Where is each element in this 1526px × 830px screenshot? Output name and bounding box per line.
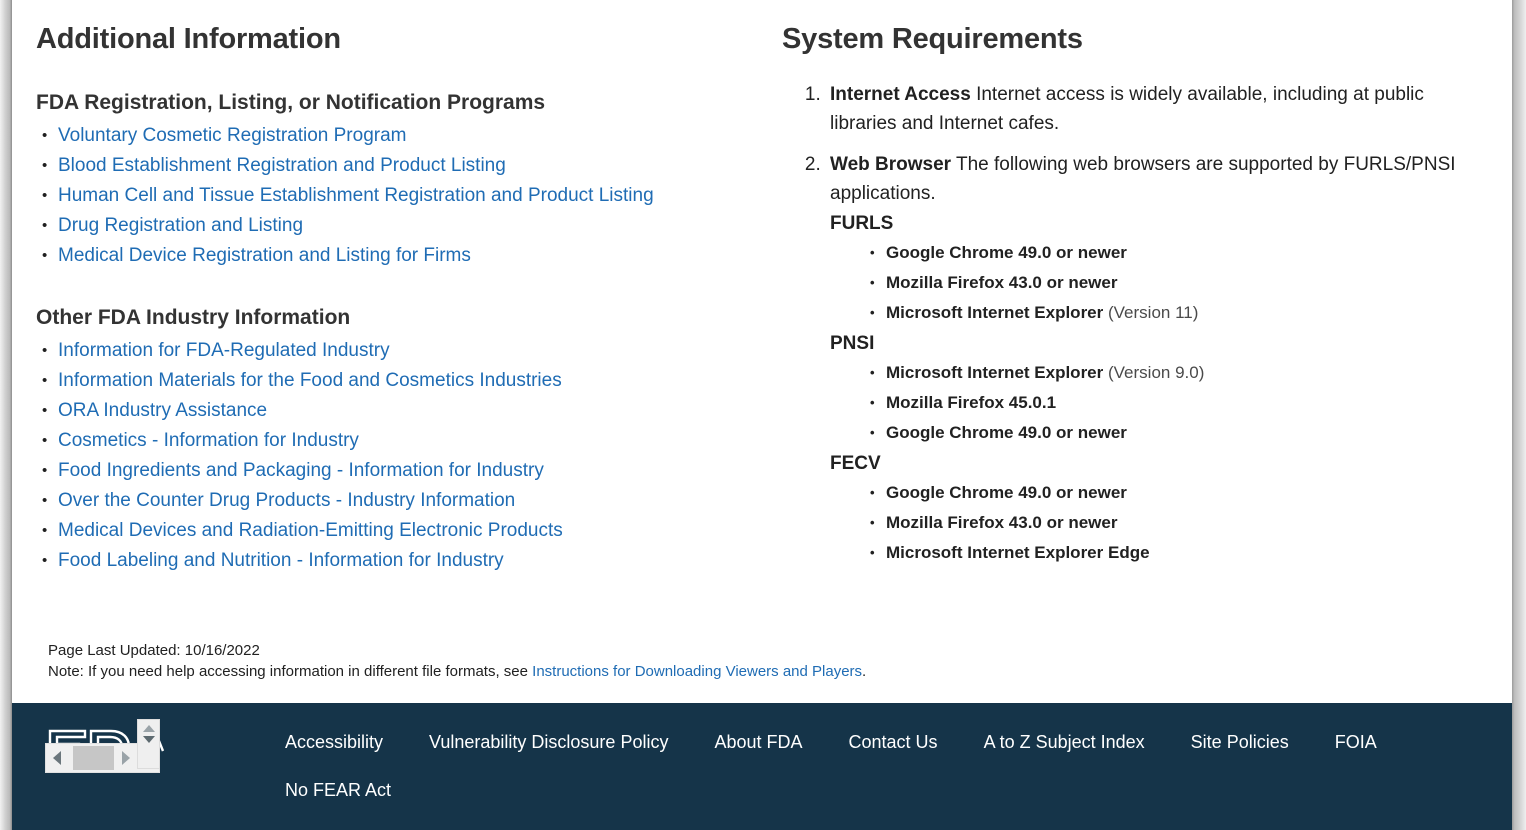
page-title-additional-information: Additional Information <box>36 22 760 56</box>
link-information-materials-food-cosmetics[interactable]: Information Materials for the Food and C… <box>58 370 562 391</box>
scroll-down-arrow-icon[interactable] <box>143 736 155 743</box>
list-item: ORA Industry Assistance <box>36 396 760 426</box>
list-item: Microsoft Internet Explorer (Version 9.0… <box>870 358 1490 388</box>
list-item: Human Cell and Tissue Establishment Regi… <box>36 181 760 211</box>
browser-list-fecv: Google Chrome 49.0 or newer Mozilla Fire… <box>830 478 1490 568</box>
link-human-cell-and-tissue-establishment[interactable]: Human Cell and Tissue Establishment Regi… <box>58 185 654 206</box>
horizontal-scrollbar-thumb[interactable] <box>73 746 114 770</box>
link-instructions-for-downloading-viewers-and-players[interactable]: Instructions for Downloading Viewers and… <box>532 663 862 680</box>
browser-list-pnsi: Microsoft Internet Explorer (Version 9.0… <box>830 358 1490 448</box>
link-information-for-fda-regulated-industry[interactable]: Information for FDA-Regulated Industry <box>58 340 390 361</box>
list-item: Google Chrome 49.0 or newer <box>870 478 1490 508</box>
link-medical-device-registration-and-listing[interactable]: Medical Device Registration and Listing … <box>58 245 471 266</box>
list-item: Information Materials for the Food and C… <box>36 366 760 396</box>
browser-version: (Version 9.0) <box>1103 363 1204 382</box>
site-footer: Accessibility Vulnerability Disclosure P… <box>12 703 1512 830</box>
list-item: Mozilla Firefox 43.0 or newer <box>870 268 1490 298</box>
file-format-note-suffix: . <box>862 663 866 680</box>
link-medical-devices-radiation-emitting[interactable]: Medical Devices and Radiation-Emitting E… <box>58 520 563 541</box>
other-fda-industry-links: Information for FDA-Regulated Industry I… <box>36 336 760 576</box>
window-left-gutter <box>0 0 12 830</box>
list-item: Blood Establishment Registration and Pro… <box>36 151 760 181</box>
requirement-internet-access: Internet Access Internet access is widel… <box>826 80 1490 138</box>
link-ora-industry-assistance[interactable]: ORA Industry Assistance <box>58 400 267 421</box>
list-item: Google Chrome 49.0 or newer <box>870 238 1490 268</box>
list-item: Google Chrome 49.0 or newer <box>870 418 1490 448</box>
page-meta: Page Last Updated: 10/16/2022 Note: If y… <box>48 640 866 682</box>
browser-group-heading-pnsi: PNSI <box>830 330 1490 358</box>
footer-link-a-to-z-subject-index[interactable]: A to Z Subject Index <box>984 729 1145 755</box>
link-food-labeling-and-nutrition[interactable]: Food Labeling and Nutrition - Informatio… <box>58 550 504 571</box>
heading-other-fda-industry-information: Other FDA Industry Information <box>36 305 760 330</box>
browser-name: Google Chrome 49.0 or newer <box>886 243 1127 262</box>
browser-name: Microsoft Internet Explorer <box>886 303 1103 322</box>
heading-fda-registration-programs: FDA Registration, Listing, or Notificati… <box>36 90 760 115</box>
browser-version: (Version 11) <box>1103 303 1198 322</box>
file-format-note-prefix: Note: If you need help accessing informa… <box>48 663 532 680</box>
scroll-up-arrow-icon[interactable] <box>143 725 155 732</box>
page-content: Additional Information FDA Registration,… <box>12 0 1512 830</box>
page-last-updated: Page Last Updated: 10/16/2022 <box>48 640 866 661</box>
browser-name: Google Chrome 49.0 or newer <box>886 483 1127 502</box>
footer-link-accessibility[interactable]: Accessibility <box>285 729 383 755</box>
file-format-note: Note: If you need help accessing informa… <box>48 661 866 682</box>
scroll-left-arrow-icon[interactable] <box>53 751 61 765</box>
requirement-label: Web Browser <box>830 154 951 175</box>
list-item: Microsoft Internet Explorer (Version 11) <box>870 298 1490 328</box>
footer-link-site-policies[interactable]: Site Policies <box>1191 729 1289 755</box>
list-item: Microsoft Internet Explorer Edge <box>870 538 1490 568</box>
list-item: Medical Device Registration and Listing … <box>36 241 760 271</box>
link-drug-registration-and-listing[interactable]: Drug Registration and Listing <box>58 215 303 236</box>
list-item: Food Labeling and Nutrition - Informatio… <box>36 546 760 576</box>
browser-name: Microsoft Internet Explorer Edge <box>886 543 1150 562</box>
browser-name: Mozilla Firefox 45.0.1 <box>886 393 1056 412</box>
list-item: Information for FDA-Regulated Industry <box>36 336 760 366</box>
list-item: Mozilla Firefox 45.0.1 <box>870 388 1490 418</box>
link-blood-establishment-registration[interactable]: Blood Establishment Registration and Pro… <box>58 155 506 176</box>
additional-information-column: Additional Information FDA Registration,… <box>12 14 760 576</box>
link-food-ingredients-and-packaging[interactable]: Food Ingredients and Packaging - Informa… <box>58 460 544 481</box>
system-requirements-list: Internet Access Internet access is widel… <box>782 80 1490 568</box>
link-voluntary-cosmetic-registration-program[interactable]: Voluntary Cosmetic Registration Program <box>58 125 406 146</box>
browser-name: Mozilla Firefox 43.0 or newer <box>886 273 1117 292</box>
window-right-scrollbar[interactable] <box>1512 0 1526 830</box>
footer-link-foia[interactable]: FOIA <box>1335 729 1377 755</box>
browser-viewport: Additional Information FDA Registration,… <box>0 0 1526 830</box>
footer-navigation: Accessibility Vulnerability Disclosure P… <box>285 729 1465 803</box>
browser-name: Microsoft Internet Explorer <box>886 363 1103 382</box>
list-item: Drug Registration and Listing <box>36 211 760 241</box>
list-item: Medical Devices and Radiation-Emitting E… <box>36 516 760 546</box>
page-title-system-requirements: System Requirements <box>782 22 1490 56</box>
vertical-scrollbar[interactable] <box>137 719 160 769</box>
requirement-label: Internet Access <box>830 84 971 105</box>
browser-name: Google Chrome 49.0 or newer <box>886 423 1127 442</box>
list-item: Food Ingredients and Packaging - Informa… <box>36 456 760 486</box>
footer-link-contact-us[interactable]: Contact Us <box>849 729 938 755</box>
list-item: Cosmetics - Information for Industry <box>36 426 760 456</box>
list-item: Voluntary Cosmetic Registration Program <box>36 121 760 151</box>
link-cosmetics-information-for-industry[interactable]: Cosmetics - Information for Industry <box>58 430 359 451</box>
footer-links-row-1: Accessibility Vulnerability Disclosure P… <box>285 729 1465 755</box>
browser-group-heading-fecv: FECV <box>830 450 1490 478</box>
browser-group-heading-furls: FURLS <box>830 210 1490 238</box>
requirement-web-browser: Web Browser The following web browsers a… <box>826 150 1490 568</box>
system-requirements-column: System Requirements Internet Access Inte… <box>760 14 1490 580</box>
footer-link-about-fda[interactable]: About FDA <box>714 729 802 755</box>
footer-link-no-fear-act[interactable]: No FEAR Act <box>285 777 391 803</box>
fda-registration-program-links: Voluntary Cosmetic Registration Program … <box>36 121 760 271</box>
browser-list-furls: Google Chrome 49.0 or newer Mozilla Fire… <box>830 238 1490 328</box>
footer-link-vulnerability-disclosure-policy[interactable]: Vulnerability Disclosure Policy <box>429 729 668 755</box>
footer-inner: Accessibility Vulnerability Disclosure P… <box>12 703 1512 830</box>
link-over-the-counter-drug-products[interactable]: Over the Counter Drug Products - Industr… <box>58 490 515 511</box>
browser-name: Mozilla Firefox 43.0 or newer <box>886 513 1117 532</box>
list-item: Over the Counter Drug Products - Industr… <box>36 486 760 516</box>
two-column-content: Additional Information FDA Registration,… <box>12 0 1512 580</box>
footer-links-row-2: No FEAR Act <box>285 777 1465 803</box>
list-item: Mozilla Firefox 43.0 or newer <box>870 508 1490 538</box>
scroll-right-arrow-icon[interactable] <box>122 751 130 765</box>
